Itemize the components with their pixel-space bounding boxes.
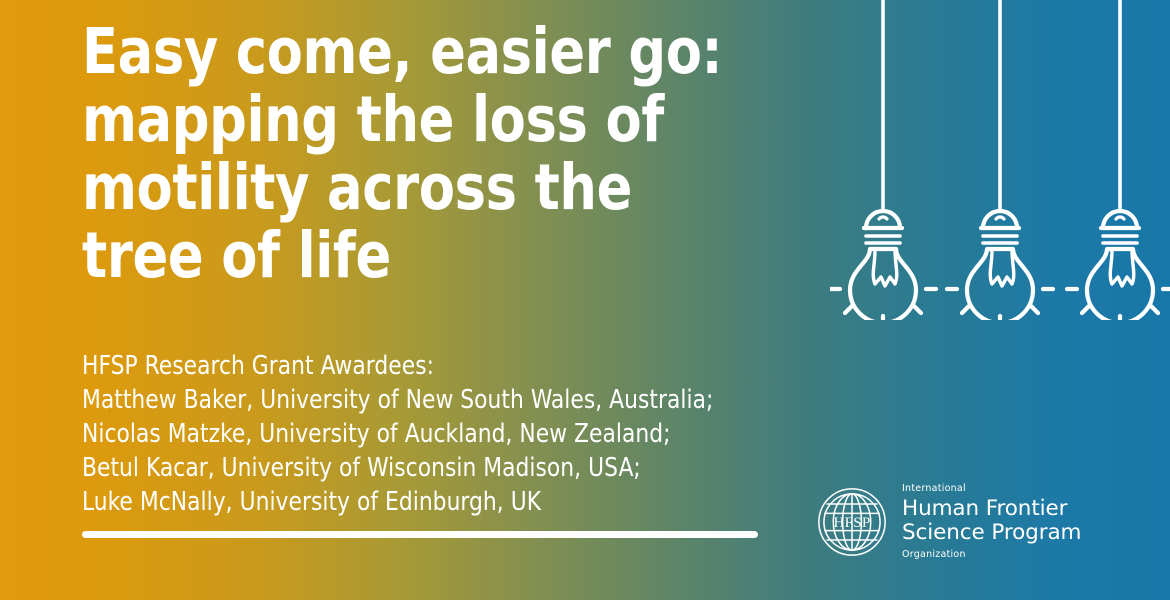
- bulb-socket-notch: [879, 217, 887, 219]
- bulb-glass: [850, 249, 916, 320]
- hanging-bulbs-decoration: [830, 0, 1170, 320]
- awardee-item: Betul Kacar, University of Wisconsin Mad…: [82, 452, 804, 486]
- logo-line-organization: Organization: [902, 550, 1081, 560]
- bulb-glass: [1087, 249, 1153, 320]
- awardees-block: HFSP Research Grant Awardees: Matthew Ba…: [82, 350, 804, 520]
- bulb-filament: [1110, 250, 1134, 286]
- bulb-ray-lower-left: [845, 306, 852, 313]
- light-bulb-icon: [947, 0, 1053, 320]
- awardees-heading: HFSP Research Grant Awardees:: [82, 350, 804, 384]
- bulb-filament: [990, 250, 1014, 286]
- bulb-glass: [967, 249, 1033, 320]
- bulb-socket-dome: [1103, 211, 1137, 228]
- presentation-banner: Easy come, easier go: mapping the loss o…: [0, 0, 1170, 600]
- awardee-item: Nicolas Matzke, University of Auckland, …: [82, 418, 804, 452]
- bulb-ray-lower-left: [1082, 306, 1089, 313]
- logo-line-science-program: Science Program: [902, 521, 1081, 546]
- bulb-ray-lower-right: [1151, 306, 1158, 313]
- awardee-item: Matthew Baker, University of New South W…: [82, 384, 804, 418]
- divider-rule: [82, 531, 758, 538]
- logo-line-international: International: [902, 484, 1081, 494]
- light-bulb-icon: [1067, 0, 1170, 320]
- logo-line-human-frontier: Human Frontier: [902, 497, 1081, 522]
- bulb-ray-lower-right: [1031, 306, 1038, 313]
- page-title: Easy come, easier go: mapping the loss o…: [82, 18, 733, 290]
- awardee-item: Luke McNally, University of Edinburgh, U…: [82, 486, 804, 520]
- bulb-socket-dome: [866, 211, 900, 228]
- light-bulb-icon: [830, 0, 936, 320]
- bulb-ray-lower-right: [914, 306, 921, 313]
- bulbs-svg: [830, 0, 1170, 320]
- bulb-socket-notch: [996, 217, 1004, 219]
- bulb-ray-lower-left: [962, 306, 969, 313]
- bulb-socket-notch: [1116, 217, 1124, 219]
- bulb-socket-dome: [983, 211, 1017, 228]
- globe-icon: HFSP: [816, 486, 888, 558]
- globe-monogram: HFSP: [834, 515, 871, 531]
- logo-wordmark: International Human Frontier Science Pro…: [902, 484, 1081, 560]
- hfsp-logo: HFSP International Human Frontier Scienc…: [816, 484, 1081, 560]
- bulb-filament: [873, 250, 897, 286]
